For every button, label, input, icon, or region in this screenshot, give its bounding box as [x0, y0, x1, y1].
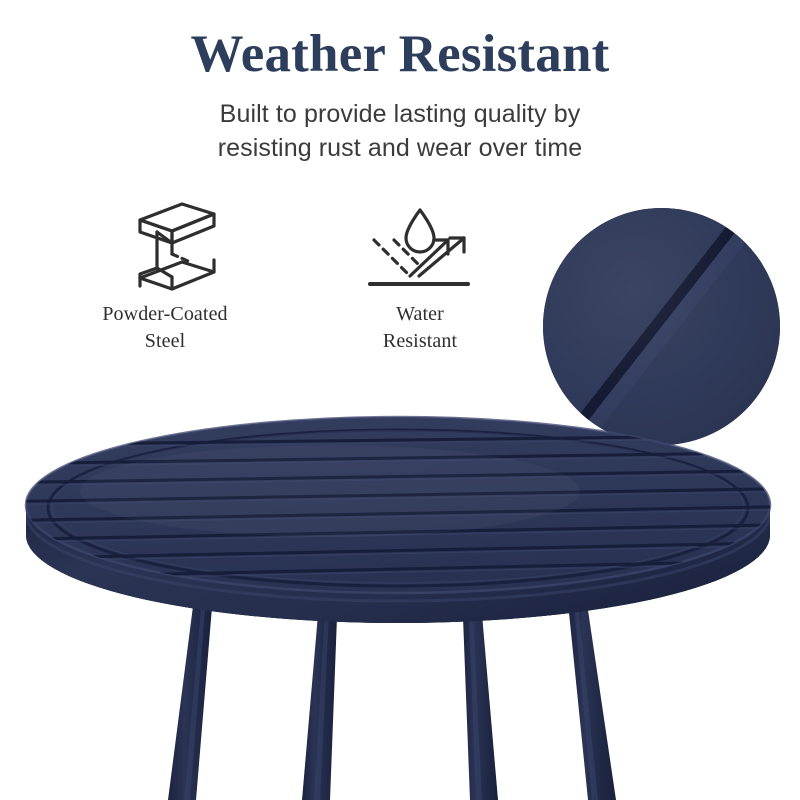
- feature-powder-coated-steel: Powder-Coated Steel: [40, 200, 290, 355]
- feature-water-resistant: Water Resistant: [300, 200, 540, 355]
- subtitle-line-1: Built to provide lasting quality by: [0, 98, 800, 132]
- i-beam-icon: [40, 200, 290, 301]
- feature-label-steel-line-2: Steel: [40, 328, 290, 355]
- product-feature-graphic: Weather Resistant Built to provide lasti…: [0, 0, 800, 800]
- feature-label-water-line-2: Resistant: [300, 328, 540, 355]
- feature-label-steel-line-1: Powder-Coated: [40, 301, 290, 328]
- round-slat-table: [0, 395, 800, 800]
- water-droplet-repel-icon: [300, 200, 540, 301]
- page-subtitle: Built to provide lasting quality by resi…: [0, 98, 800, 165]
- page-title: Weather Resistant: [0, 28, 800, 81]
- feature-label-steel: Powder-Coated Steel: [40, 301, 290, 355]
- feature-label-water: Water Resistant: [300, 301, 540, 355]
- feature-label-water-line-1: Water: [300, 301, 540, 328]
- subtitle-line-2: resisting rust and wear over time: [0, 132, 800, 166]
